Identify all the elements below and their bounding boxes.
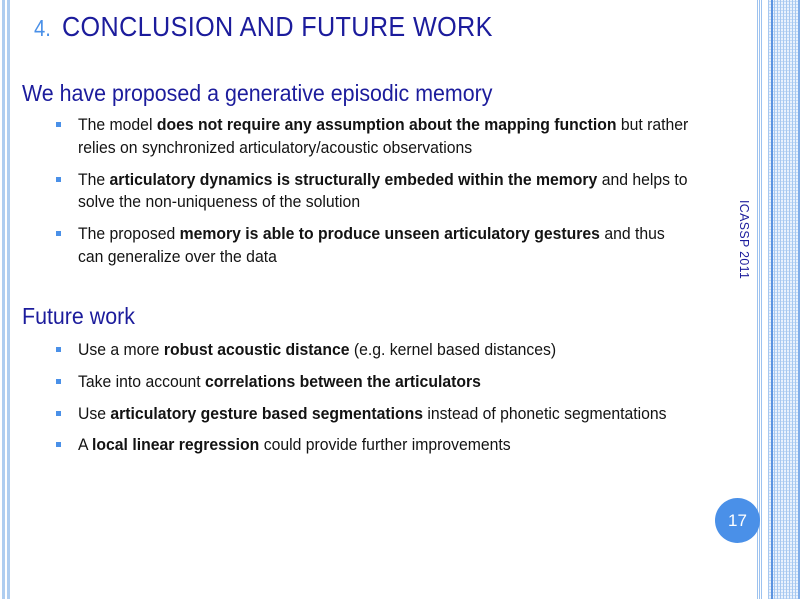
bullet-text: Use articulatory gesture based segmentat… <box>78 403 693 426</box>
slide-title-text: CONCLUSION AND FUTURE WORK <box>62 11 493 43</box>
conference-side-label: ICASSP 2011 <box>737 200 752 279</box>
bullet-text: Take into account correlations between t… <box>78 371 693 394</box>
presentation-slide: 4. CONCLUSION AND FUTURE WORK We have pr… <box>0 0 800 599</box>
section-heading-future-work: Future work <box>22 303 135 330</box>
bullet-item: A local linear regression could provide … <box>50 434 722 457</box>
bullet-text: The model does not require any assumptio… <box>78 114 693 160</box>
right-border-rule-inner <box>771 0 773 599</box>
bullet-item: The model does not require any assumptio… <box>50 114 722 160</box>
bullet-square-icon <box>56 411 61 416</box>
bullet-text: Use a more robust acoustic distance (e.g… <box>78 339 693 362</box>
bullet-square-icon <box>56 177 61 182</box>
left-border-stripe-outer <box>2 0 5 599</box>
bullet-square-icon <box>56 231 61 236</box>
bullet-square-icon <box>56 379 61 384</box>
slide-title: 4. CONCLUSION AND FUTURE WORK <box>34 11 541 43</box>
bullet-item: Use articulatory gesture based segmentat… <box>50 403 722 426</box>
bullet-text: The proposed memory is able to produce u… <box>78 223 693 269</box>
bullet-item: The proposed memory is able to produce u… <box>50 223 722 269</box>
left-border-stripe-inner <box>7 0 10 599</box>
slide-title-number: 4. <box>34 15 51 42</box>
bullet-text: A local linear regression could provide … <box>78 434 693 457</box>
bullet-list-future-work: Use a more robust acoustic distance (e.g… <box>50 339 722 466</box>
bullet-item: Use a more robust acoustic distance (e.g… <box>50 339 722 362</box>
section-heading-conclusion: We have proposed a generative episodic m… <box>22 80 492 107</box>
bullet-square-icon <box>56 347 61 352</box>
bullet-square-icon <box>56 122 61 127</box>
bullet-list-conclusion: The model does not require any assumptio… <box>50 114 722 278</box>
bullet-text: The articulatory dynamics is structurall… <box>78 169 693 215</box>
bullet-square-icon <box>56 442 61 447</box>
page-number-badge: 17 <box>715 498 760 543</box>
bullet-item: Take into account correlations between t… <box>50 371 722 394</box>
bullet-item: The articulatory dynamics is structurall… <box>50 169 722 215</box>
